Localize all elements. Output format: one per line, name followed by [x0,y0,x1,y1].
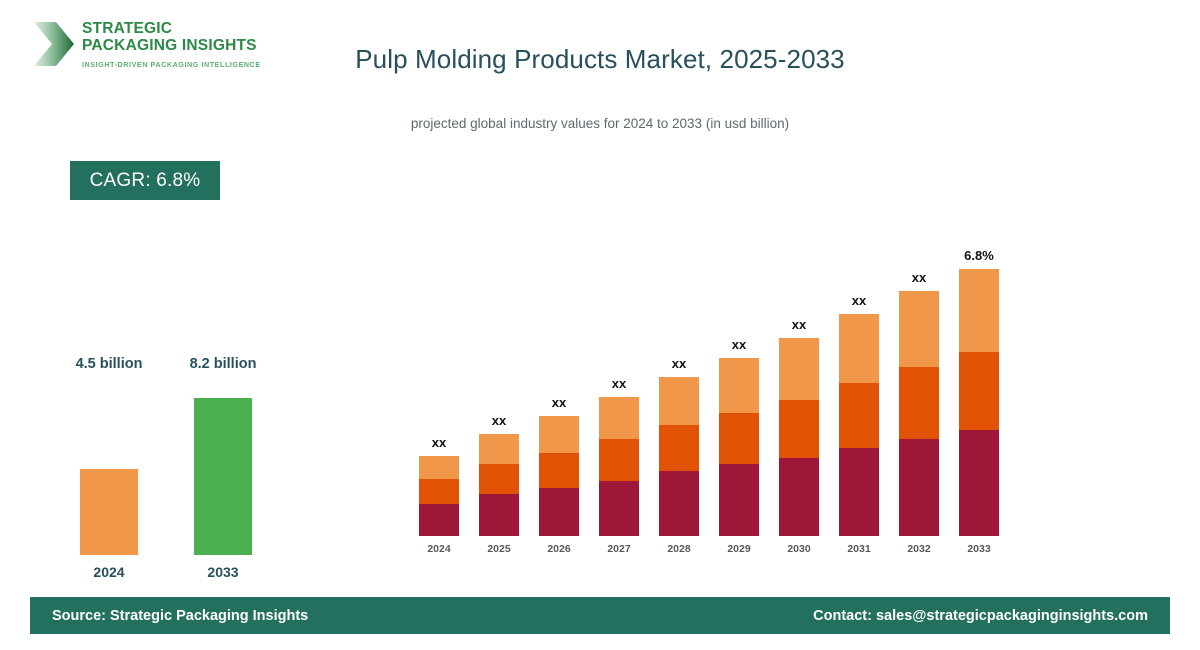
stacked-column: xx2030 [779,338,819,536]
stack-segment-segment-2 [419,479,459,504]
stacked-column: xx2027 [599,397,639,536]
stack-value-label: xx [469,413,529,428]
stack-segment-segment-2 [959,352,999,430]
cagr-badge: CAGR: 6.8% [70,161,220,200]
stack-value-label: xx [889,270,949,285]
stack-year-label: 2032 [887,543,951,555]
stack-value-label: xx [709,337,769,352]
stack-segment-segment-2 [659,425,699,471]
stack-value-label: xx [649,356,709,371]
stack-year-label: 2028 [647,543,711,555]
comparison-bar-chart: 4.5 billion20248.2 billion2033 [40,300,300,580]
stack-segment-segment-1 [839,448,879,536]
stack-value-label: xx [769,317,829,332]
stack-segment-segment-3 [479,434,519,464]
stack-year-label: 2024 [407,543,471,555]
stack-segment-segment-1 [599,481,639,536]
stack-segment-segment-2 [599,439,639,481]
stacked-column: xx2028 [659,377,699,536]
stack-segment-segment-1 [779,458,819,536]
comparison-column: 8.2 billion2033 [168,356,278,580]
stack-segment-segment-3 [539,416,579,453]
stacked-column: xx2029 [719,358,759,536]
stack-segment-segment-3 [899,291,939,367]
stack-segment-segment-2 [779,400,819,458]
stack-year-label: 2026 [527,543,591,555]
stack-segment-segment-1 [959,430,999,536]
stack-segment-segment-2 [539,453,579,488]
stack-segment-segment-3 [599,397,639,439]
stack-segment-segment-1 [479,494,519,536]
stacked-column: xx2032 [899,291,939,536]
comparison-value-label: 8.2 billion [168,356,278,372]
stack-segment-segment-1 [899,439,939,536]
stacked-bar-chart: xx2024xx2025xx2026xx2027xx2028xx2029xx20… [405,190,1020,560]
page-title: Pulp Molding Products Market, 2025-2033 [0,44,1200,75]
stack-segment-segment-3 [659,377,699,425]
stacked-column: xx2024 [419,456,459,536]
stack-value-label: xx [589,376,649,391]
stack-segment-segment-1 [719,464,759,536]
stack-segment-segment-2 [479,464,519,494]
stack-segment-segment-3 [419,456,459,479]
stack-value-label: xx [409,435,469,450]
comparison-bar [194,398,252,555]
stacked-column: 6.8%2033 [959,269,999,536]
comparison-column: 4.5 billion2024 [54,356,164,580]
stacked-column: xx2026 [539,416,579,536]
stack-year-label: 2030 [767,543,831,555]
stack-segment-segment-3 [959,269,999,352]
footer-source: Source: Strategic Packaging Insights [52,608,308,624]
stack-segment-segment-1 [539,488,579,536]
comparison-year-label: 2033 [168,564,278,580]
stacked-column: xx2025 [479,434,519,536]
stack-year-label: 2033 [947,543,1011,555]
stack-segment-segment-2 [839,383,879,448]
stack-segment-segment-3 [779,338,819,400]
logo-line-1: STRATEGIC [82,20,261,37]
stack-value-label: xx [529,395,589,410]
stack-year-label: 2027 [587,543,651,555]
stack-year-label: 2031 [827,543,891,555]
comparison-value-label: 4.5 billion [54,356,164,372]
stack-segment-segment-2 [899,367,939,439]
stack-segment-segment-1 [419,504,459,536]
stack-year-label: 2025 [467,543,531,555]
stack-segment-segment-2 [719,413,759,464]
comparison-bar [80,469,138,555]
comparison-year-label: 2024 [54,564,164,580]
stacked-column: xx2031 [839,314,879,536]
stack-value-label: xx [829,293,889,308]
stack-year-label: 2029 [707,543,771,555]
footer-bar: Source: Strategic Packaging Insights Con… [30,597,1170,634]
page-subtitle: projected global industry values for 202… [0,116,1200,131]
stack-segment-segment-1 [659,471,699,536]
stack-segment-segment-3 [839,314,879,383]
stack-segment-segment-3 [719,358,759,413]
stack-value-label: 6.8% [949,248,1009,263]
footer-contact: Contact: sales@strategicpackaginginsight… [813,608,1148,624]
